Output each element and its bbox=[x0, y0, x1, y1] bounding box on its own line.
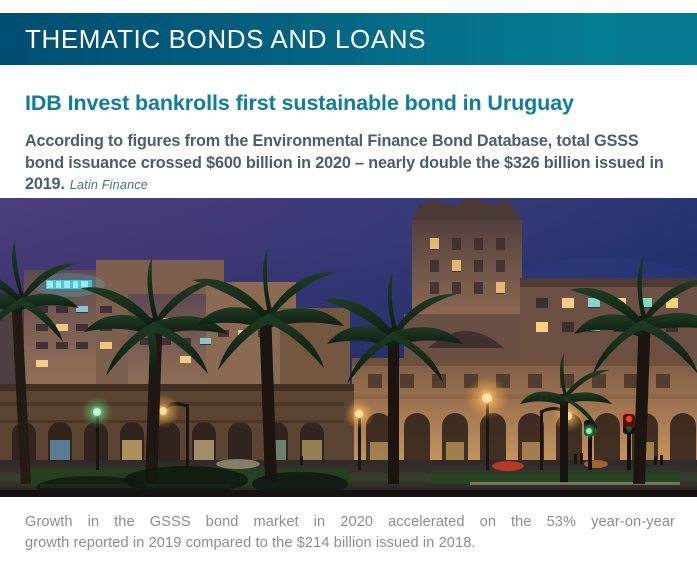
article-photo bbox=[0, 198, 697, 497]
article-source-attribution: Latin Finance bbox=[65, 178, 148, 192]
section-header-title: THEMATIC BONDS AND LOANS bbox=[0, 26, 426, 52]
article-headline: IDB Invest bankrolls first sustainable b… bbox=[25, 92, 675, 116]
section-header-band: THEMATIC BONDS AND LOANS bbox=[0, 13, 697, 65]
photo-caption-line-2: growth reported in 2019 compared to the … bbox=[25, 533, 675, 554]
photo-caption: Growth in the GSSS bond market in 2020 a… bbox=[25, 512, 675, 554]
montevideo-night-illustration bbox=[0, 198, 697, 497]
photo-caption-line-1: Growth in the GSSS bond market in 2020 a… bbox=[25, 512, 675, 533]
article-card: THEMATIC BONDS AND LOANS IDB Invest bank… bbox=[0, 0, 697, 580]
article-deck: According to figures from the Environmen… bbox=[25, 131, 680, 196]
